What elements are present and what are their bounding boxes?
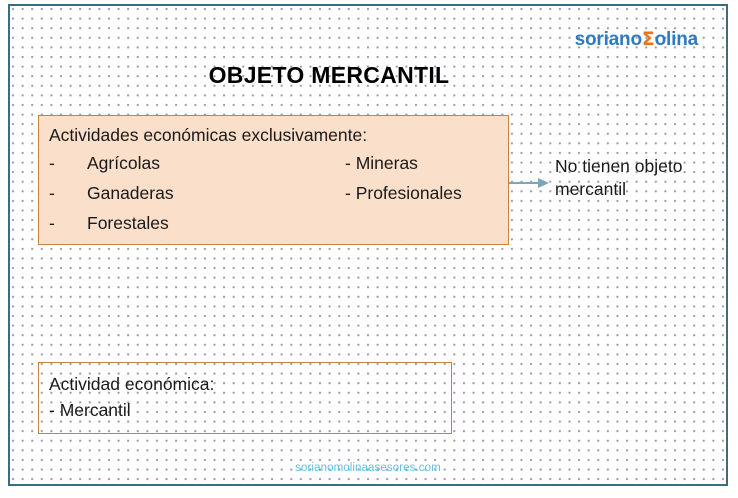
activity-label-profesionales: - Profesionales [345, 178, 462, 208]
logo-text-first: soriano [575, 29, 642, 50]
arrow-shaft [509, 182, 541, 184]
activity-row: - Ganaderas - Profesionales [49, 178, 508, 208]
logo-sigma-icon: Σ [642, 28, 655, 50]
economic-activity-box: Actividad económica: - Mercantil [38, 362, 452, 434]
footer-website: sorianomolinaasesores.com [10, 462, 726, 474]
economic-activity-heading: Actividad económica: [49, 372, 451, 398]
activity-label-agricolas: Agrícolas [87, 148, 160, 178]
activity-label-mineras: - Mineras [345, 148, 418, 178]
activity-row: - Forestales [49, 208, 508, 238]
activity-row: - Agrícolas - Mineras [49, 148, 508, 178]
bullet-dash: - [49, 178, 55, 208]
brand-logo: sorianoΣolina [575, 30, 698, 49]
activities-box: Actividades económicas exclusivamente: -… [38, 115, 509, 245]
bullet-dash: - [49, 148, 55, 178]
page-title: OBJETO MERCANTIL [10, 62, 726, 89]
bullet-dash: - [49, 208, 55, 238]
activities-heading: Actividades económicas exclusivamente: [49, 125, 508, 146]
side-note-line2: mercantil [555, 178, 728, 201]
side-note-line1: No tienen objeto [555, 155, 728, 178]
slide-canvas: sorianoΣolina OBJETO MERCANTIL Actividad… [8, 4, 728, 486]
economic-activity-item: - Mercantil [49, 398, 451, 424]
right-arrow-icon [509, 178, 551, 188]
arrow-head [538, 178, 549, 188]
activity-label-forestales: Forestales [87, 208, 169, 238]
logo-text-second: olina [655, 29, 698, 50]
activity-label-ganaderas: Ganaderas [87, 178, 174, 208]
activities-rows: - Agrícolas - Mineras - Ganaderas - Prof… [49, 148, 508, 238]
side-note: No tienen objeto mercantil [555, 155, 728, 202]
